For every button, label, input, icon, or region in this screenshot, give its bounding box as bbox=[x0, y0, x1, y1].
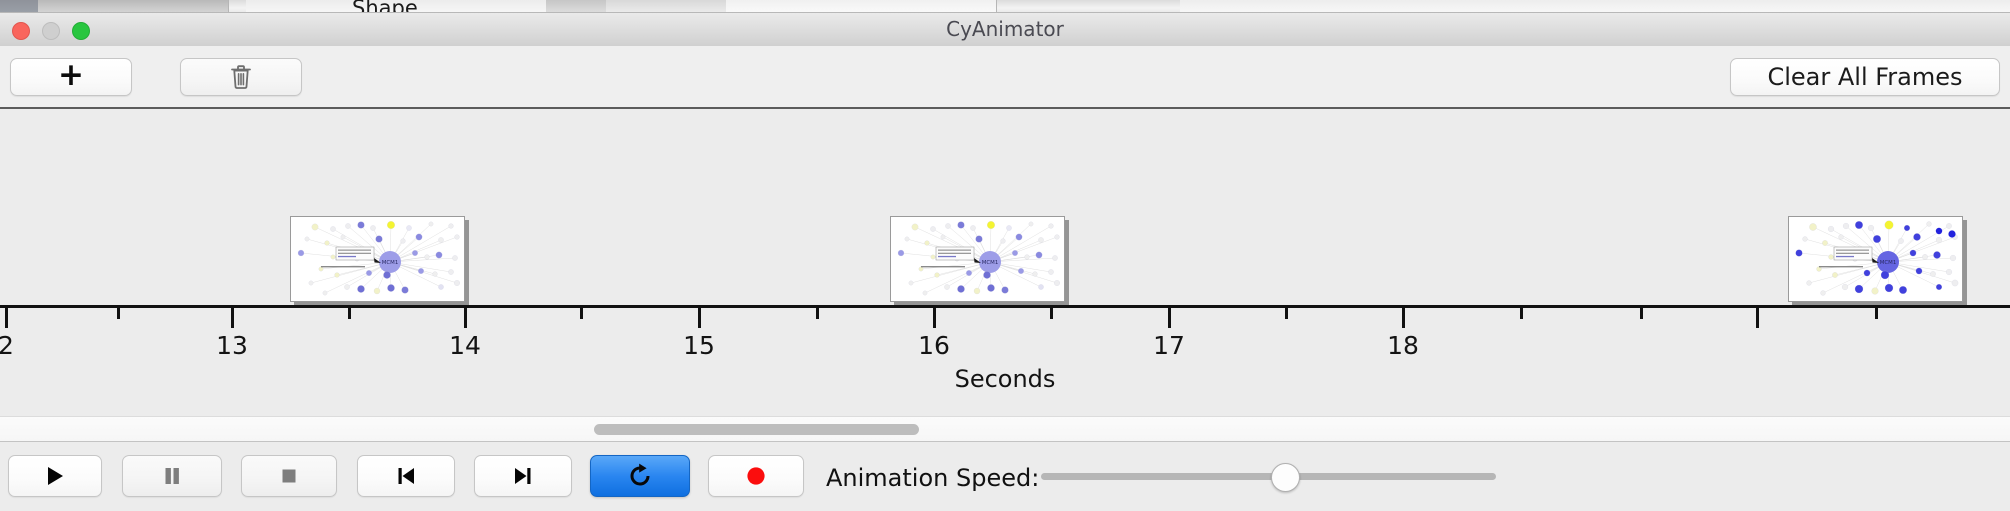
play-button[interactable] bbox=[8, 455, 102, 497]
axis-tick bbox=[1285, 308, 1288, 319]
timeline-frame-thumbnail[interactable]: MCM1 bbox=[890, 216, 1065, 302]
axis-title: Seconds bbox=[0, 365, 2010, 393]
svg-text:MCM1: MCM1 bbox=[1880, 260, 1897, 266]
axis-tick bbox=[1640, 308, 1643, 319]
playback-bar: Animation Speed: bbox=[0, 441, 2010, 511]
svg-text:MCM1: MCM1 bbox=[982, 260, 999, 266]
add-frame-button[interactable]: + bbox=[10, 58, 132, 96]
axis-tick bbox=[1756, 308, 1759, 328]
axis-tick-label: 15 bbox=[683, 331, 715, 360]
animation-speed-label: Animation Speed: bbox=[826, 464, 1039, 492]
toolbar: + Clear All Frames bbox=[0, 46, 2010, 108]
axis-tick-label: 18 bbox=[1387, 331, 1419, 360]
axis-tick bbox=[933, 308, 936, 328]
timeline-scrollbar[interactable] bbox=[0, 416, 2010, 442]
clear-all-frames-button[interactable]: Clear All Frames bbox=[1730, 58, 2000, 96]
pause-button[interactable] bbox=[122, 455, 222, 497]
axis-tick bbox=[1875, 308, 1878, 319]
delete-frame-button[interactable] bbox=[180, 58, 302, 96]
axis-tick bbox=[580, 308, 583, 319]
plus-icon: + bbox=[58, 60, 84, 91]
axis-tick-label: 16 bbox=[918, 331, 950, 360]
skip-forward-icon bbox=[510, 463, 536, 489]
axis-tick bbox=[1402, 308, 1405, 328]
background-window-strip: Shape bbox=[0, 0, 2010, 13]
record-button[interactable] bbox=[708, 455, 804, 497]
skip-to-end-button[interactable] bbox=[474, 455, 572, 497]
axis-tick-label: 14 bbox=[449, 331, 481, 360]
clear-all-frames-label: Clear All Frames bbox=[1767, 63, 1962, 91]
axis-tick bbox=[348, 308, 351, 319]
stop-button[interactable] bbox=[241, 455, 337, 497]
axis-tick-label: 17 bbox=[1153, 331, 1185, 360]
axis-tick bbox=[5, 308, 8, 328]
axis-tick bbox=[231, 308, 234, 328]
axis-tick bbox=[1168, 308, 1171, 328]
cyanimator-window: Shape CyAnimator + Clear All Frames MCM1… bbox=[0, 0, 2010, 510]
scrollbar-thumb[interactable] bbox=[594, 424, 919, 435]
svg-text:MCM1: MCM1 bbox=[382, 260, 399, 266]
title-bar: CyAnimator bbox=[0, 13, 2010, 47]
axis-tick-label: 13 bbox=[216, 331, 248, 360]
axis-tick bbox=[464, 308, 467, 328]
animation-speed-slider[interactable] bbox=[1041, 473, 1496, 480]
axis-tick bbox=[1050, 308, 1053, 319]
pause-icon bbox=[159, 463, 185, 489]
axis-tick bbox=[117, 308, 120, 319]
animation-speed-slider-thumb[interactable] bbox=[1271, 463, 1300, 492]
trash-icon bbox=[230, 64, 252, 90]
timeline-panel[interactable]: MCM1MCM1MCM1 2131415161718 Seconds bbox=[0, 109, 2010, 416]
axis-tick bbox=[1520, 308, 1523, 319]
timeline-frame-thumbnail[interactable]: MCM1 bbox=[1788, 216, 1963, 302]
play-icon bbox=[42, 463, 68, 489]
axis-tick bbox=[816, 308, 819, 319]
window-title: CyAnimator bbox=[0, 13, 2010, 46]
loop-icon bbox=[626, 462, 654, 490]
timeline-frame-thumbnail[interactable]: MCM1 bbox=[290, 216, 465, 302]
skip-back-icon bbox=[393, 463, 419, 489]
timeline-axis bbox=[0, 305, 2010, 308]
record-icon bbox=[743, 463, 769, 489]
axis-tick bbox=[698, 308, 701, 328]
axis-tick-label: 2 bbox=[0, 331, 14, 360]
loop-button[interactable] bbox=[590, 455, 690, 497]
skip-to-start-button[interactable] bbox=[357, 455, 455, 497]
stop-icon bbox=[276, 463, 302, 489]
